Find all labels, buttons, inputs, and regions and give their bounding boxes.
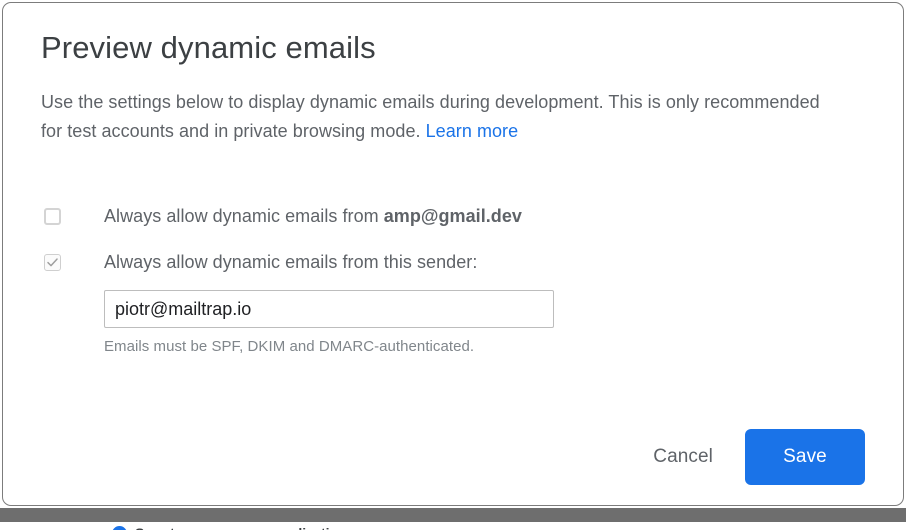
learn-more-link[interactable]: Learn more xyxy=(426,121,519,141)
sender-input-hint: Emails must be SPF, DKIM and DMARC-authe… xyxy=(104,338,865,355)
background-content-strip: Smart compose personalization xyxy=(0,508,906,530)
background-partial-option-row: Smart compose personalization xyxy=(0,522,906,530)
dialog-description: Use the settings below to display dynami… xyxy=(41,88,841,146)
option-row-always-allow-sender[interactable]: Always allow dynamic emails from this se… xyxy=(41,251,865,274)
option-label-email: amp@gmail.dev xyxy=(384,206,522,226)
dialog-footer: Cancel Save xyxy=(635,429,865,485)
option-label-prefix: Always allow dynamic emails from xyxy=(104,206,384,226)
cancel-button[interactable]: Cancel xyxy=(635,434,731,480)
option-label-always-allow-sender: Always allow dynamic emails from this se… xyxy=(104,251,477,274)
save-button[interactable]: Save xyxy=(745,429,865,485)
option-label-always-allow-amp: Always allow dynamic emails from amp@gma… xyxy=(104,205,522,228)
sender-email-input[interactable] xyxy=(104,290,554,328)
dialog-title: Preview dynamic emails xyxy=(41,29,865,66)
radio-selected-icon xyxy=(112,526,127,530)
checkbox-checked-icon[interactable] xyxy=(44,254,61,271)
option-row-always-allow-amp[interactable]: Always allow dynamic emails from amp@gma… xyxy=(41,205,865,228)
checkbox-unchecked-icon[interactable] xyxy=(44,208,61,225)
preview-dynamic-emails-dialog: Preview dynamic emails Use the settings … xyxy=(2,2,904,506)
sender-field-group: Emails must be SPF, DKIM and DMARC-authe… xyxy=(104,290,865,355)
background-partial-option-label: Smart compose personalization xyxy=(135,525,347,530)
